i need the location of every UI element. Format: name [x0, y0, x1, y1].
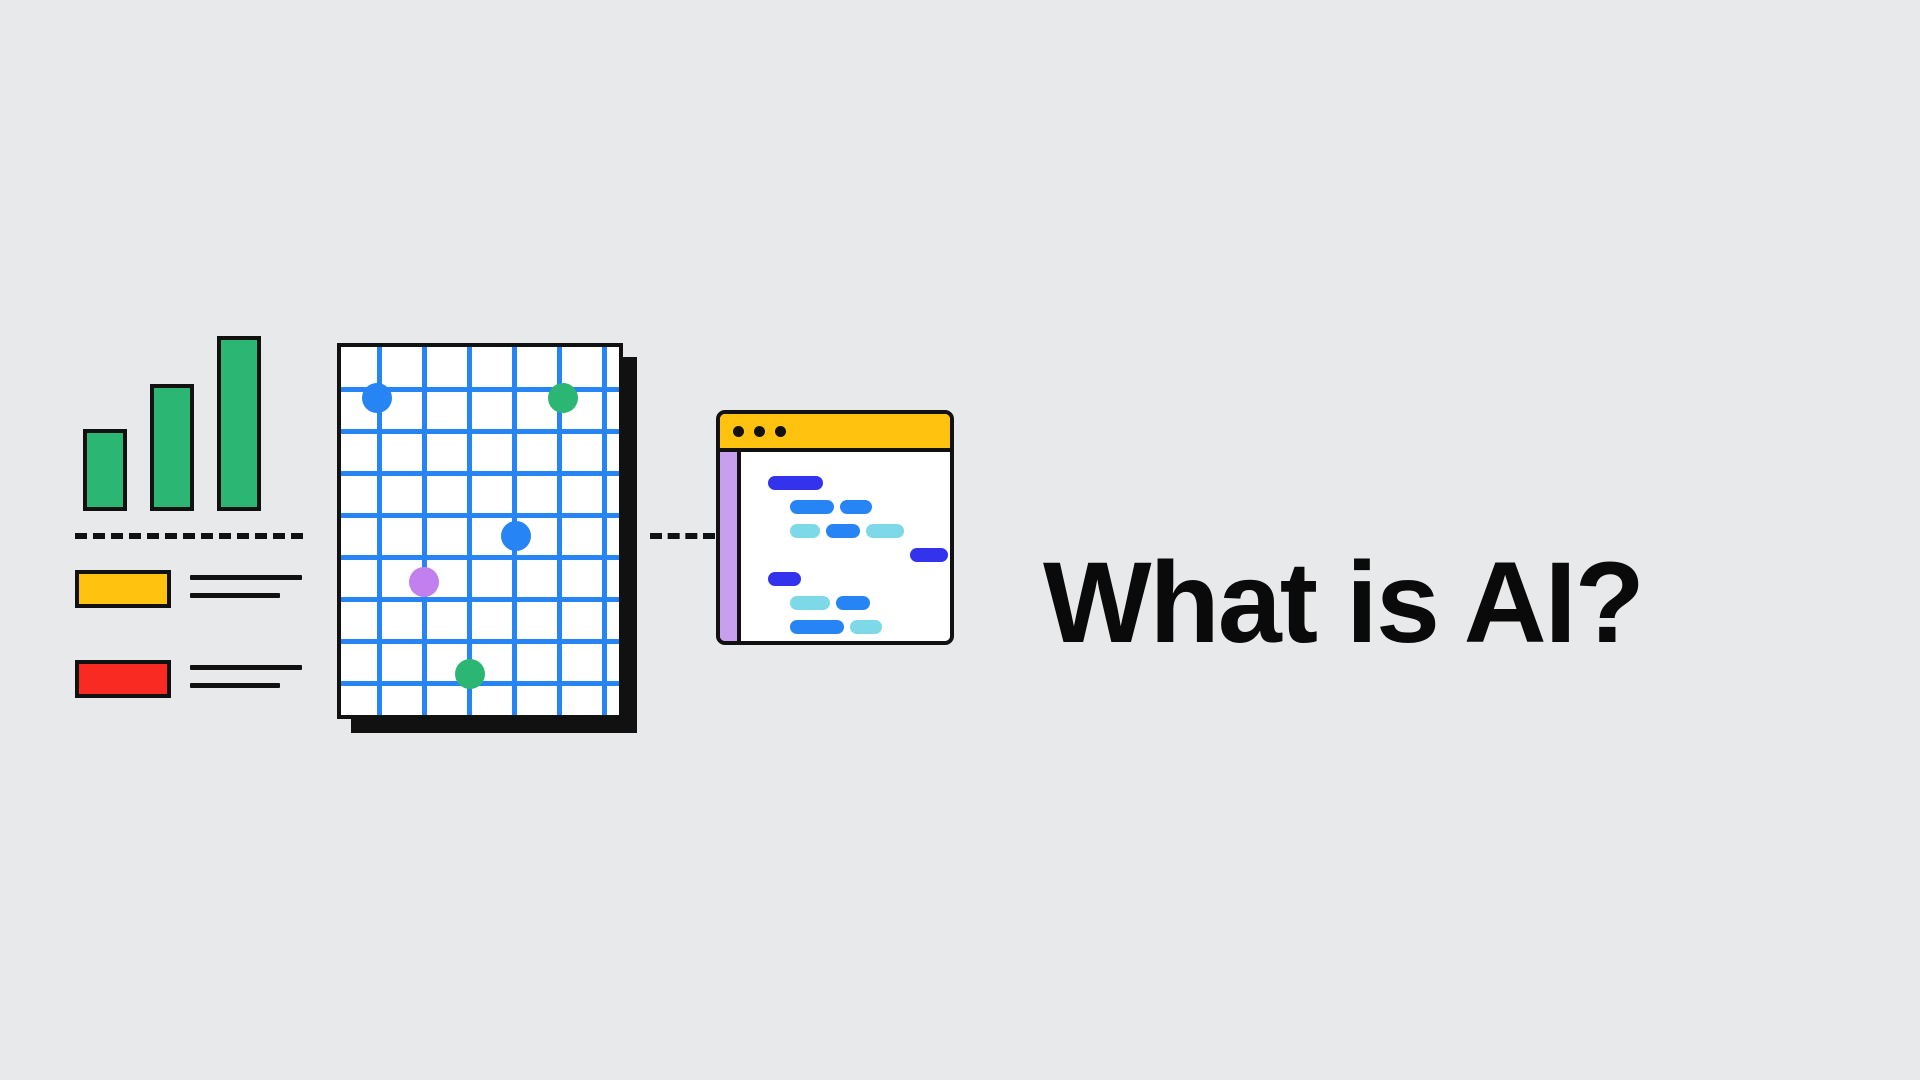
scatter-point-4 [409, 567, 439, 597]
code-pill-line-7 [790, 620, 844, 634]
bar-chart-bar-3 [217, 336, 261, 511]
legend-line-long [190, 665, 302, 670]
gridline-vertical-6 [602, 347, 607, 715]
bar-chart-bar-2 [150, 384, 194, 511]
panel-surface [337, 343, 623, 719]
legend-text-lines-red [190, 665, 302, 688]
legend-line-long [190, 575, 302, 580]
page-title: What is AI? [1043, 543, 1643, 664]
gridline-horizontal-3 [341, 471, 619, 476]
dashed-baseline [75, 533, 303, 539]
gridline-horizontal-7 [341, 639, 619, 644]
code-pill-line-3 [826, 524, 860, 538]
code-pill-line-6 [836, 596, 870, 610]
code-pill-line-7 [850, 620, 882, 634]
legend-text-lines-yellow [190, 575, 302, 598]
scatter-point-3 [501, 521, 531, 551]
bar-chart [83, 336, 273, 511]
gridline-horizontal-6 [341, 597, 619, 602]
legend-swatch-yellow [75, 570, 171, 608]
code-pill-line-3 [790, 524, 820, 538]
code-pill-line-3 [866, 524, 904, 538]
gridline-horizontal-4 [341, 513, 619, 518]
gridline-horizontal-5 [341, 555, 619, 560]
gridline-vertical-2 [422, 347, 427, 715]
code-editor-window [716, 410, 954, 645]
scatter-point-5 [455, 659, 485, 689]
code-pill-line-2 [790, 500, 834, 514]
window-minimize-icon[interactable] [754, 426, 765, 437]
code-window-titlebar [720, 414, 950, 452]
code-window-sidebar [720, 452, 741, 641]
legend-swatch-red [75, 660, 171, 698]
legend-line-short [190, 683, 280, 688]
code-pill-line-4 [910, 548, 948, 562]
code-pill-line-6 [790, 596, 830, 610]
connector-grid-to-code-icon [650, 533, 715, 539]
code-pill-line-2 [840, 500, 872, 514]
code-window-frame [716, 410, 954, 645]
illustration-canvas: What is AI? [0, 0, 1920, 1080]
code-pill-line-1 [768, 476, 823, 490]
legend-line-short [190, 593, 280, 598]
spreadsheet-scatter-panel [337, 343, 637, 733]
window-maximize-icon[interactable] [775, 426, 786, 437]
gridline-horizontal-2 [341, 429, 619, 434]
bar-chart-bar-1 [83, 429, 127, 511]
scatter-point-2 [548, 383, 578, 413]
scatter-point-1 [362, 383, 392, 413]
analytics-illustration [75, 336, 315, 686]
code-pill-line-5 [768, 572, 801, 586]
code-window-body [745, 452, 950, 641]
window-close-icon[interactable] [733, 426, 744, 437]
